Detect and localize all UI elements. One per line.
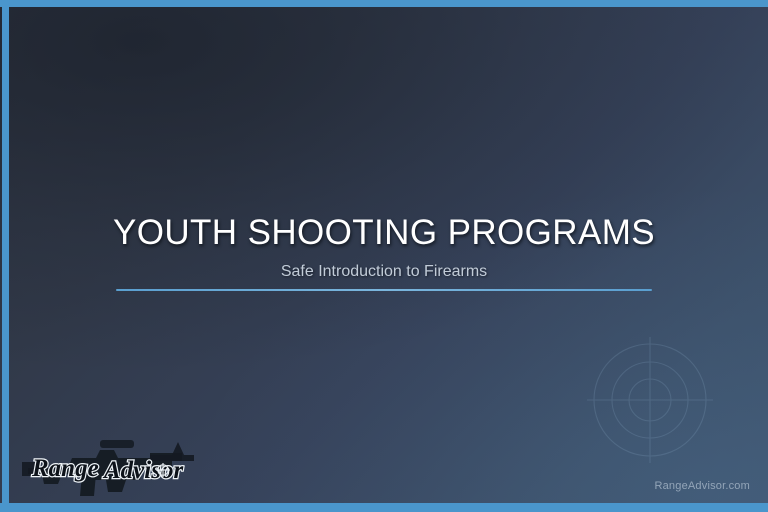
brand-logo: Range Advisor	[22, 428, 198, 502]
logo-wordmark: Range Advisor	[31, 455, 183, 484]
page-subtitle: Safe Introduction to Firearms	[0, 262, 768, 282]
accent-bar-top	[0, 0, 768, 7]
footer-url: RangeAdvisor.com	[654, 480, 750, 492]
title-block: YOUTH SHOOTING PROGRAMS Safe Introductio…	[0, 212, 768, 282]
title-slide: YOUTH SHOOTING PROGRAMS Safe Introductio…	[0, 0, 768, 512]
accent-bar-bottom	[0, 503, 768, 512]
svg-text:Range: Range	[31, 455, 99, 482]
page-title: YOUTH SHOOTING PROGRAMS	[0, 212, 768, 254]
title-divider	[116, 289, 652, 291]
crosshair-target-icon	[583, 333, 717, 467]
svg-text:Advisor: Advisor	[102, 457, 183, 484]
